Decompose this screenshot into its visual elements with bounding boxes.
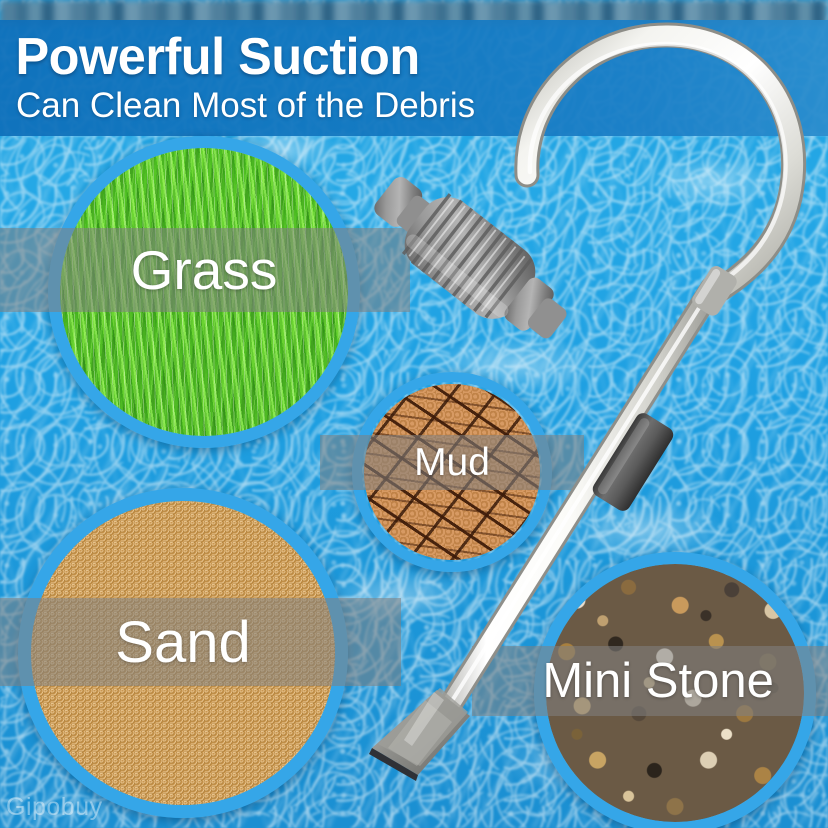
headline-subtitle: Can Clean Most of the Debris — [0, 88, 828, 125]
mini-stone-label: Mini Stone — [542, 653, 774, 709]
debris-circle-grass: Grass — [48, 136, 360, 448]
header-text-group: Powerful Suction Can Clean Most of the D… — [0, 20, 828, 136]
debris-circle-mini-stone: Mini Stone — [534, 552, 816, 828]
sand-label-band: Sand — [0, 598, 401, 686]
watermark-text: Gipobuy — [6, 793, 103, 822]
mini-stone-label-band: Mini Stone — [472, 646, 828, 716]
mud-label: Mud — [414, 441, 490, 485]
mud-label-band: Mud — [320, 435, 584, 490]
grass-label-band: Grass — [0, 228, 410, 312]
product-marketing-image: Powerful Suction Can Clean Most of the D… — [0, 0, 828, 828]
debris-circle-mud: Mud — [352, 372, 552, 572]
headline-title: Powerful Suction — [0, 31, 803, 84]
grass-label: Grass — [131, 238, 278, 302]
debris-circle-sand: Sand — [18, 488, 348, 818]
sand-label: Sand — [115, 609, 250, 676]
